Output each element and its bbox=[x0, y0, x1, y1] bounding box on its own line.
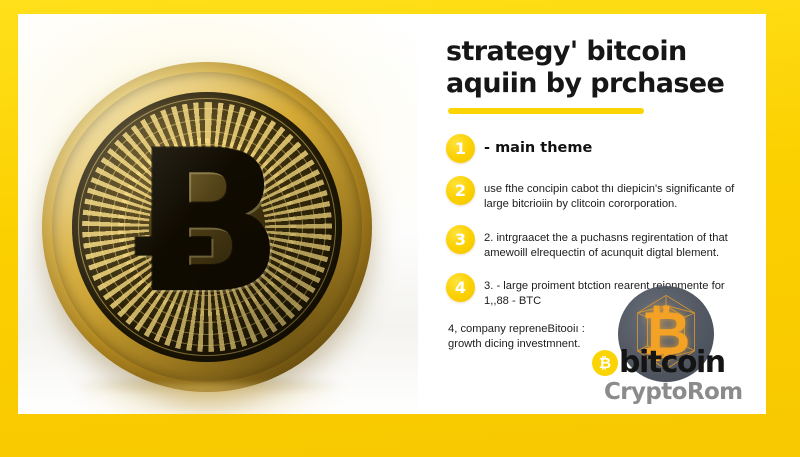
headline-line-1: strategy' bitcoin bbox=[446, 36, 687, 67]
list-item: 2 use fthe concipin cabot thı diepicin's… bbox=[446, 176, 744, 212]
page-title: strategy' bitcoin aquiin by prchasee bbox=[446, 36, 744, 99]
coin-bitcoin-symbol: Ƀ bbox=[72, 125, 342, 321]
title-underline bbox=[448, 108, 644, 114]
headline-line-2: aquiin by prchasee bbox=[446, 68, 724, 99]
coin-photo-pane: Ƀ bbox=[18, 14, 418, 414]
step-text: use fthe concipin cabot thı diepicin's s… bbox=[484, 176, 734, 212]
step-number-badge: 2 bbox=[446, 176, 475, 205]
coin-body: Ƀ bbox=[42, 62, 372, 392]
watermark-badge-icon: ₿ bbox=[592, 350, 618, 376]
list-item: 4 3. - large proiment btction rearent re… bbox=[446, 273, 744, 309]
text-pane: strategy' bitcoin aquiin by prchasee 1 -… bbox=[418, 14, 766, 414]
step-number-badge: 3 bbox=[446, 225, 475, 254]
content-card: Ƀ strategy' bitcoin aquiin by prchasee 1… bbox=[18, 14, 766, 414]
bitcoin-coin-image: Ƀ bbox=[42, 62, 372, 392]
coin-reflection bbox=[78, 384, 338, 414]
poster: Ƀ strategy' bitcoin aquiin by prchasee 1… bbox=[0, 0, 800, 457]
step-text: 3. - large proiment btction rearent reio… bbox=[484, 273, 725, 309]
list-item: 1 - main theme bbox=[446, 134, 744, 163]
step-text: 2. intrgraacet the a puchasns regirentat… bbox=[484, 225, 728, 261]
closing-note: 4, company repreneBitooiı : growth dicin… bbox=[448, 322, 744, 353]
step-number-badge: 1 bbox=[446, 134, 475, 163]
step-text: - main theme bbox=[484, 134, 592, 158]
watermark-subtitle: CryptoRom bbox=[604, 381, 743, 404]
numbered-steps-list: 1 - main theme 2 use fthe concipin cabot… bbox=[446, 134, 744, 309]
coin-face: Ƀ bbox=[72, 92, 342, 362]
list-item: 3 2. intrgraacet the a puchasns regirent… bbox=[446, 225, 744, 261]
step-number-badge: 4 bbox=[446, 273, 475, 302]
